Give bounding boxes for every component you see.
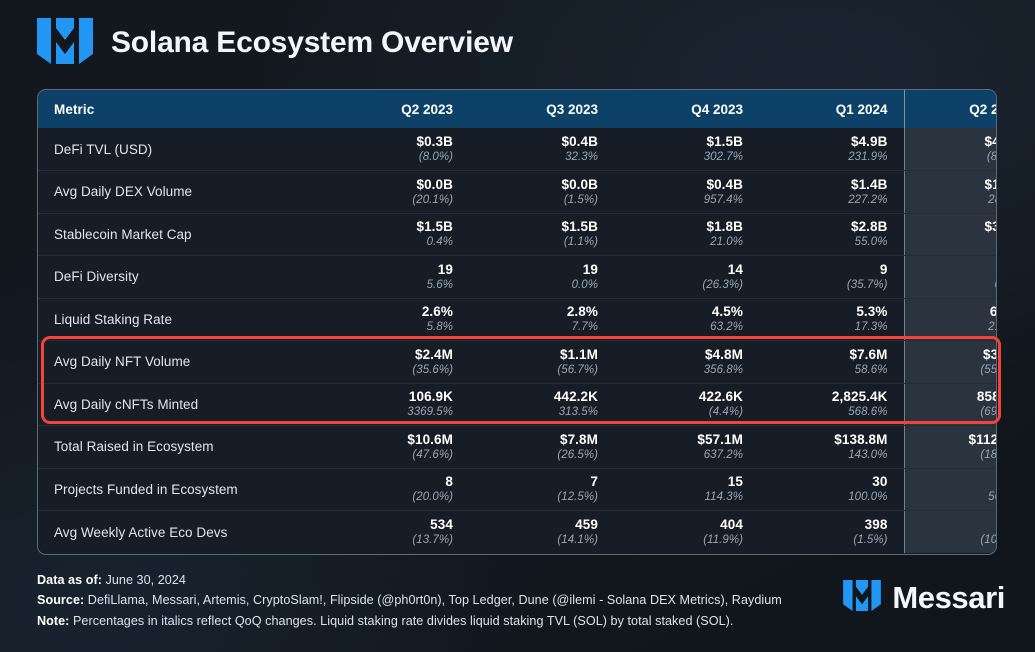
cell-value: $1.5B [630,134,743,149]
cell-delta: 21.0% [630,236,743,249]
table-header-row: Metric Q2 2023 Q3 2023 Q4 2023 Q1 2024 Q… [38,90,997,128]
cell-delta: 55.0% [775,236,888,249]
table-cell: $7.6M58.6% [759,341,904,384]
cell-value: 6.4% [921,304,998,319]
cell-delta: (35.7%) [775,279,888,292]
footer-source-value: DefiLlama, Messari, Artemis, CryptoSlam!… [84,593,782,607]
cell-value: 14 [630,262,743,277]
row-metric-label: Avg Daily cNFTs Minted [38,383,324,426]
column-header-metric: Metric [38,90,324,128]
cell-value: $112.8M [921,432,998,447]
row-metric-label: DeFi Diversity [38,256,324,299]
cell-value: $1.8B [630,219,743,234]
brand-name: Messari [892,580,1005,616]
table-cell: $1.5B0.4% [324,213,469,256]
table-cell: 358(10.2%) [904,511,997,554]
cell-delta: 0.4% [340,236,453,249]
cell-value: 534 [340,517,453,532]
cell-value: 8 [340,474,453,489]
cell-delta: (35.6%) [340,364,453,377]
row-metric-label: DeFi TVL (USD) [38,128,324,171]
row-metric-label: Stablecoin Market Cap [38,213,324,256]
footer-data-as-of-value: June 30, 2024 [102,573,186,587]
cell-delta: 32.3% [485,151,598,164]
table-row: DeFi TVL (USD)$0.3B(8.0%)$0.4B32.3%$1.5B… [38,128,997,171]
cell-delta: (12.5%) [485,491,598,504]
column-header-q1-2024: Q1 2024 [759,90,904,128]
page-title: Solana Ecosystem Overview [111,26,513,60]
table-cell: $3.1B7.6% [904,213,997,256]
cell-value: $10.6M [340,432,453,447]
table-cell: $0.4B957.4% [614,171,759,214]
cell-delta: (1.5%) [485,194,598,207]
table-cell: $57.1M637.2% [614,426,759,469]
cell-value: 858.0K [921,389,998,404]
table-cell: 534(13.7%) [324,511,469,554]
table-cell: 190.0% [469,256,614,299]
cell-delta: (69.6%) [921,406,998,419]
cell-delta: 114.3% [630,491,743,504]
cell-value: 9 [775,262,888,277]
cell-value: $1.5B [485,219,598,234]
table-cell: 90.0% [904,256,997,299]
table-header: Metric Q2 2023 Q3 2023 Q4 2023 Q1 2024 Q… [38,90,997,128]
table-cell: $0.3B(8.0%) [324,128,469,171]
table-cell: 2.6%5.8% [324,298,469,341]
table-cell: 2,825.4K568.6% [759,383,904,426]
cell-value: 4.5% [630,304,743,319]
cell-value: 7 [485,474,598,489]
table-cell: $7.8M(26.5%) [469,426,614,469]
cell-value: $2.8B [775,219,888,234]
table-cell: 858.0K(69.6%) [904,383,997,426]
cell-value: 30 [775,474,888,489]
row-metric-label: Avg Daily NFT Volume [38,341,324,384]
cell-delta: 143.0% [775,449,888,462]
table-cell: $4.9B231.9% [759,128,904,171]
cell-delta: 100.0% [775,491,888,504]
table-cell: 4.5%63.2% [614,298,759,341]
cell-value: $7.6M [775,347,888,362]
cell-value: $7.8M [485,432,598,447]
cell-value: $1.4B [775,177,888,192]
cell-delta: 28.1% [921,194,998,207]
cell-delta: 5.6% [340,279,453,292]
cell-value: 19 [485,262,598,277]
cell-delta: 637.2% [630,449,743,462]
cell-value: $1.7B [921,177,998,192]
row-metric-label: Avg Weekly Active Eco Devs [38,511,324,554]
cell-value: 404 [630,517,743,532]
cell-value: $4.8M [630,347,743,362]
cell-delta: 231.9% [775,151,888,164]
cell-value: 442.2K [485,389,598,404]
footer-source: Source: DefiLlama, Messari, Artemis, Cry… [37,590,867,610]
cell-value: $0.0B [485,177,598,192]
column-header-q4-2023: Q4 2023 [614,90,759,128]
table-row: Avg Weekly Active Eco Devs534(13.7%)459(… [38,511,997,554]
cell-delta: 63.2% [630,321,743,334]
table-body: DeFi TVL (USD)$0.3B(8.0%)$0.4B32.3%$1.5B… [38,128,997,553]
table-cell: 30100.0% [759,468,904,511]
footer-data-as-of: Data as of: June 30, 2024 [37,570,867,590]
cell-delta: 3369.5% [340,406,453,419]
table-cell: 106.9K3369.5% [324,383,469,426]
cell-value: $0.3B [340,134,453,149]
cell-value: 15 [630,474,743,489]
table-row: Avg Daily cNFTs Minted106.9K3369.5%442.2… [38,383,997,426]
table-row: Liquid Staking Rate2.6%5.8%2.8%7.7%4.5%6… [38,298,997,341]
row-metric-label: Projects Funded in Ecosystem [38,468,324,511]
table-cell: 404(11.9%) [614,511,759,554]
table-cell: $1.4B227.2% [759,171,904,214]
table-cell: 2.8%7.7% [469,298,614,341]
table-cell: $1.8B21.0% [614,213,759,256]
cell-value: 19 [340,262,453,277]
row-metric-label: Total Raised in Ecosystem [38,426,324,469]
cell-delta: (4.4%) [630,406,743,419]
table-cell: 8(20.0%) [324,468,469,511]
cell-value: 9 [921,262,998,277]
table-cell: $112.8M(18.7%) [904,426,997,469]
table-cell: $4.8M356.8% [614,341,759,384]
row-metric-label: Liquid Staking Rate [38,298,324,341]
cell-delta: (1.5%) [775,534,888,547]
table-cell: 4756.7% [904,468,997,511]
brand-lockup: Messari [843,580,1005,616]
cell-value: $1.1M [485,347,598,362]
table-cell: 442.2K313.5% [469,383,614,426]
cell-delta: 17.3% [775,321,888,334]
cell-delta: 227.2% [775,194,888,207]
table-row: Avg Daily NFT Volume$2.4M(35.6%)$1.1M(56… [38,341,997,384]
cell-delta: (8.0%) [340,151,453,164]
table-row: Avg Daily DEX Volume$0.0B(20.1%)$0.0B(1.… [38,171,997,214]
footer-note: Note: Percentages in italics reflect QoQ… [37,611,867,631]
table-cell: $10.6M(47.6%) [324,426,469,469]
cell-value: $1.5B [340,219,453,234]
cell-value: $0.0B [340,177,453,192]
table-row: Total Raised in Ecosystem$10.6M(47.6%)$7… [38,426,997,469]
cell-value: $57.1M [630,432,743,447]
row-metric-label: Avg Daily DEX Volume [38,171,324,214]
footer-data-as-of-label: Data as of: [37,573,102,587]
table-cell: 7(12.5%) [469,468,614,511]
cell-value: $0.4B [630,177,743,192]
table-cell: $0.0B(1.5%) [469,171,614,214]
column-header-q2-2023: Q2 2023 [324,90,469,128]
messari-logo-icon [843,580,881,616]
cell-value: 106.9K [340,389,453,404]
table-cell: 459(14.1%) [469,511,614,554]
cell-value: $0.4B [485,134,598,149]
table-cell: 6.4%21.5% [904,298,997,341]
cell-delta: (20.0%) [340,491,453,504]
table-cell: $1.5B302.7% [614,128,759,171]
table-cell: 398(1.5%) [759,511,904,554]
cell-value: 358 [921,517,998,532]
cell-delta: (18.7%) [921,449,998,462]
messari-logo-icon [37,18,93,69]
cell-value: 5.3% [775,304,888,319]
table-row: Stablecoin Market Cap$1.5B0.4%$1.5B(1.1%… [38,213,997,256]
cell-delta: (13.7%) [340,534,453,547]
cell-delta: (10.2%) [921,534,998,547]
column-header-q2-2024: Q2 2024 [904,90,997,128]
cell-delta: 313.5% [485,406,598,419]
table-cell: $4.5B(8.6%) [904,128,997,171]
cell-value: $2.4M [340,347,453,362]
cell-delta: 0.0% [485,279,598,292]
cell-value: $4.9B [775,134,888,149]
cell-delta: 7.7% [485,321,598,334]
cell-delta: 7.6% [921,236,998,249]
table-cell: 15114.3% [614,468,759,511]
cell-delta: (11.9%) [630,534,743,547]
cell-delta: 356.8% [630,364,743,377]
table-row: Projects Funded in Ecosystem8(20.0%)7(12… [38,468,997,511]
page-header: Solana Ecosystem Overview [37,14,513,72]
cell-delta: (26.3%) [630,279,743,292]
cell-delta: (47.6%) [340,449,453,462]
table-cell: $1.7B28.1% [904,171,997,214]
cell-delta: 568.6% [775,406,888,419]
table-cell: $2.4M(35.6%) [324,341,469,384]
cell-value: 2,825.4K [775,389,888,404]
table-cell: $1.1M(56.7%) [469,341,614,384]
table-cell: $0.4B32.3% [469,128,614,171]
cell-value: 459 [485,517,598,532]
cell-delta: (20.1%) [340,194,453,207]
cell-delta: (56.7%) [485,364,598,377]
cell-delta: 5.8% [340,321,453,334]
cell-value: $4.5B [921,134,998,149]
cell-delta: 957.4% [630,194,743,207]
table-cell: 422.6K(4.4%) [614,383,759,426]
table-cell: 14(26.3%) [614,256,759,299]
cell-value: 2.6% [340,304,453,319]
infographic-page: Solana Ecosystem Overview Metric Q2 2023… [0,0,1035,652]
cell-delta: 58.6% [775,364,888,377]
metrics-table-card: Metric Q2 2023 Q3 2023 Q4 2023 Q1 2024 Q… [37,89,997,555]
table-cell: $2.8B55.0% [759,213,904,256]
footer-notes: Data as of: June 30, 2024 Source: DefiLl… [37,570,867,631]
cell-delta: 21.5% [921,321,998,334]
cell-value: $3.4M [921,347,998,362]
column-header-q3-2023: Q3 2023 [469,90,614,128]
cell-delta: (26.5%) [485,449,598,462]
table-cell: $138.8M143.0% [759,426,904,469]
cell-value: 47 [921,474,998,489]
cell-delta: 56.7% [921,491,998,504]
cell-delta: (1.1%) [485,236,598,249]
cell-value: $138.8M [775,432,888,447]
footer-note-value: Percentages in italics reflect QoQ chang… [69,614,733,628]
table-cell: $3.4M(55.6%) [904,341,997,384]
footer-source-label: Source: [37,593,84,607]
cell-value: $3.1B [921,219,998,234]
cell-value: 2.8% [485,304,598,319]
cell-delta: (8.6%) [921,151,998,164]
table-cell: $0.0B(20.1%) [324,171,469,214]
cell-delta: 0.0% [921,279,998,292]
table-cell: 9(35.7%) [759,256,904,299]
footer-note-label: Note: [37,614,69,628]
cell-value: 422.6K [630,389,743,404]
cell-delta: (14.1%) [485,534,598,547]
metrics-table: Metric Q2 2023 Q3 2023 Q4 2023 Q1 2024 Q… [38,90,997,553]
cell-delta: 302.7% [630,151,743,164]
table-cell: $1.5B(1.1%) [469,213,614,256]
table-cell: 5.3%17.3% [759,298,904,341]
cell-delta: (55.6%) [921,364,998,377]
table-row: DeFi Diversity195.6%190.0%14(26.3%)9(35.… [38,256,997,299]
table-cell: 195.6% [324,256,469,299]
cell-value: 398 [775,517,888,532]
